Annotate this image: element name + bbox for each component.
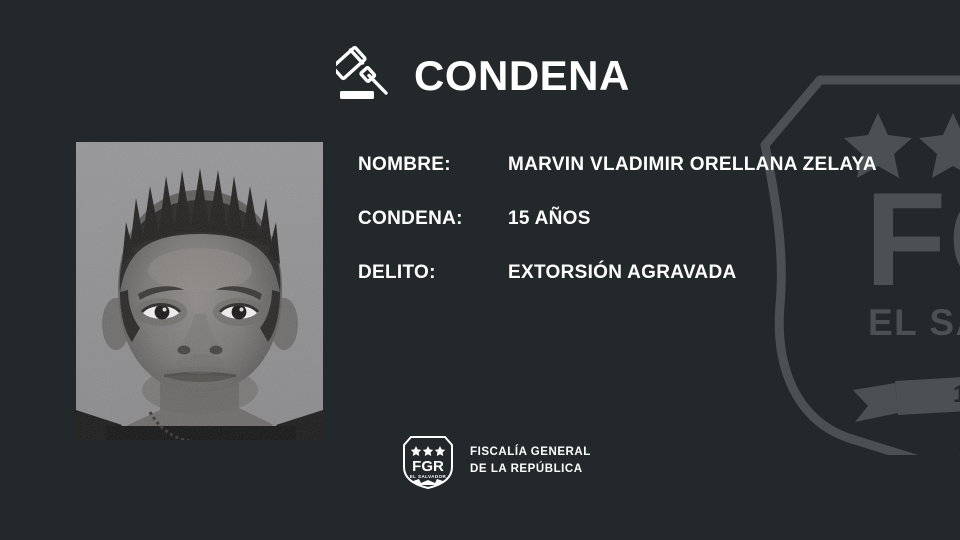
mugshot-photo	[76, 142, 323, 440]
svg-text:FGR: FGR	[412, 458, 444, 475]
detail-row-delito: DELITO: EXTORSIÓN AGRAVADA	[358, 260, 878, 286]
fgr-footer-text: FISCALÍA GENERAL DE LA REPÚBLICA	[470, 444, 591, 477]
fgr-shield-icon: FGR EL SALVADOR	[399, 431, 457, 491]
fgr-footer-line2: DE LA REPÚBLICA	[470, 461, 591, 478]
detail-label-nombre: NOMBRE:	[358, 152, 508, 178]
detail-value-condena: 15 AÑOS	[508, 206, 878, 232]
fgr-footer-line1: FISCALÍA GENERAL	[470, 444, 591, 461]
watermark-initials: FGR	[865, 166, 960, 314]
detail-row-condena: CONDENA: 15 AÑOS	[358, 206, 878, 232]
details-list: NOMBRE: MARVIN VLADIMIR ORELLANA ZELAYA …	[358, 152, 878, 287]
gavel-icon	[336, 46, 398, 106]
condena-graphic: FGR EL SALVADOR 1978 CONDENA	[0, 0, 960, 540]
watermark-subtitle: EL SALVADOR	[868, 302, 960, 343]
svg-text:EL SALVADOR: EL SALVADOR	[410, 474, 447, 479]
svg-text:1978: 1978	[953, 381, 960, 408]
detail-label-condena: CONDENA:	[358, 206, 508, 232]
detail-value-nombre: MARVIN VLADIMIR ORELLANA ZELAYA	[508, 152, 878, 178]
detail-value-delito: EXTORSIÓN AGRAVADA	[508, 260, 878, 286]
detail-row-nombre: NOMBRE: MARVIN VLADIMIR ORELLANA ZELAYA	[358, 152, 878, 178]
detail-label-delito: DELITO:	[358, 260, 508, 286]
fgr-footer-logo: FGR EL SALVADOR FISCALÍA GENERAL DE LA R…	[399, 431, 591, 491]
watermark-ribbon: 1978	[853, 373, 960, 422]
header: CONDENA	[336, 44, 630, 108]
page-title: CONDENA	[414, 55, 630, 97]
